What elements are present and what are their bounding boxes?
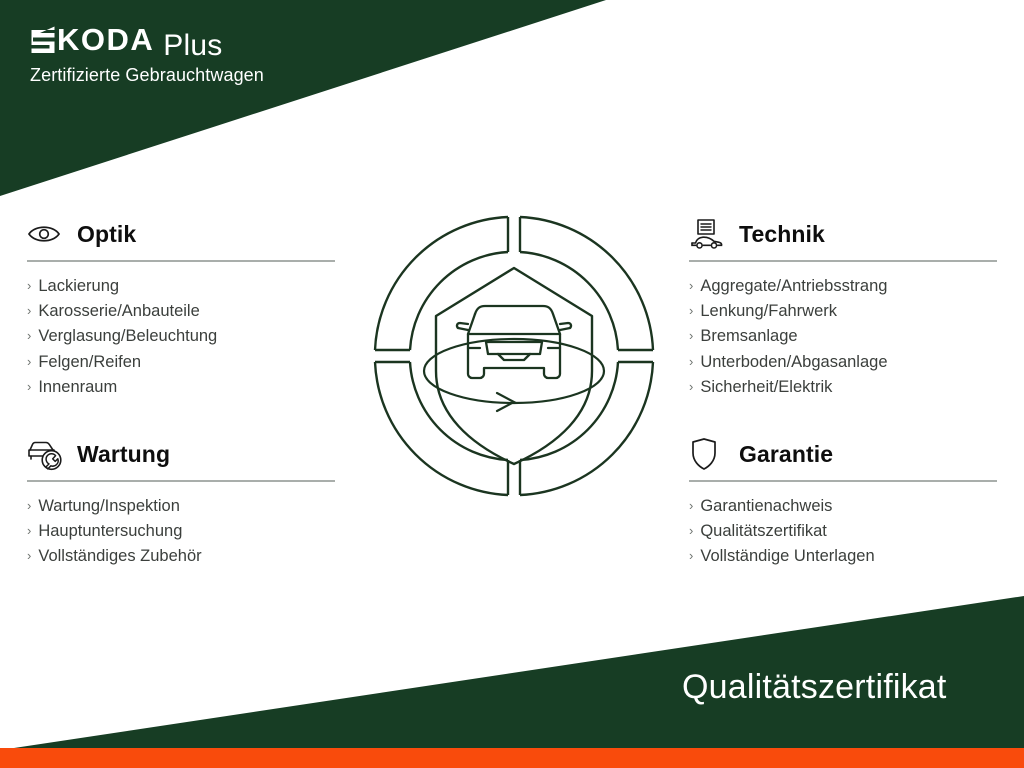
eye-icon <box>27 217 65 251</box>
section-wartung-header: Wartung <box>27 434 339 474</box>
section-wartung-title: Wartung <box>77 441 170 468</box>
brand-name-row: ŠKODA KODA Plus <box>30 24 264 61</box>
list-item: ›Sicherheit/Elektrik <box>689 375 1001 400</box>
chevron-right-icon: › <box>27 377 31 397</box>
chevron-right-icon: › <box>689 276 693 296</box>
list-item: ›Innenraum <box>27 375 339 400</box>
list-item-label: Qualitätszertifikat <box>700 519 827 544</box>
chevron-right-icon: › <box>27 546 31 566</box>
section-garantie-list: ›Garantienachweis ›Qualitätszertifikat ›… <box>689 494 1001 570</box>
section-optik-header: Optik <box>27 214 339 254</box>
list-item: ›Qualitätszertifikat <box>689 519 1001 544</box>
list-item-label: Karosserie/Anbauteile <box>38 299 199 324</box>
section-wartung-divider <box>27 480 335 482</box>
car-wrench-icon <box>27 437 65 471</box>
chevron-right-icon: › <box>689 496 693 516</box>
list-item-label: Garantienachweis <box>700 494 832 519</box>
brand-lockup: ŠKODA KODA Plus Zertifizierte Gebrauchtw… <box>30 24 264 86</box>
section-technik-header: Technik <box>689 214 1001 254</box>
section-wartung-list: ›Wartung/Inspektion ›Hauptuntersuchung ›… <box>27 494 339 570</box>
chevron-right-icon: › <box>689 301 693 321</box>
list-item-label: Unterboden/Abgasanlage <box>700 350 887 375</box>
list-item-label: Aggregate/Antriebsstrang <box>700 274 887 299</box>
list-item: ›Verglasung/Beleuchtung <box>27 324 339 349</box>
section-garantie-divider <box>689 480 997 482</box>
shield-icon <box>689 437 727 471</box>
document-car-icon <box>689 217 727 251</box>
list-item-label: Felgen/Reifen <box>38 350 141 375</box>
list-item: ›Karosserie/Anbauteile <box>27 299 339 324</box>
footer-title: Qualitätszertifikat <box>682 668 1002 707</box>
list-item: ›Felgen/Reifen <box>27 350 339 375</box>
chevron-right-icon: › <box>27 301 31 321</box>
list-item: ›Lenkung/Fahrwerk <box>689 299 1001 324</box>
section-garantie-header: Garantie <box>689 434 1001 474</box>
skoda-wordmark: ŠKODA KODA <box>30 24 154 55</box>
section-technik-list: ›Aggregate/Antriebsstrang ›Lenkung/Fahrw… <box>689 274 1001 400</box>
list-item: ›Vollständiges Zubehör <box>27 544 339 569</box>
list-item-label: Hauptuntersuchung <box>38 519 182 544</box>
section-technik-divider <box>689 260 997 262</box>
section-technik: Technik ›Aggregate/Antriebsstrang ›Lenku… <box>689 214 1001 400</box>
section-optik: Optik ›Lackierung ›Karosserie/Anbauteile… <box>27 214 339 400</box>
chevron-right-icon: › <box>27 521 31 541</box>
chevron-right-icon: › <box>27 326 31 346</box>
shield-car-rings-emblem <box>358 196 670 516</box>
chevron-right-icon: › <box>689 377 693 397</box>
section-optik-list: ›Lackierung ›Karosserie/Anbauteile ›Verg… <box>27 274 339 400</box>
list-item: ›Unterboden/Abgasanlage <box>689 350 1001 375</box>
skoda-wordmark-visible: KODA <box>57 24 154 55</box>
list-item: ›Aggregate/Antriebsstrang <box>689 274 1001 299</box>
plus-wordmark: Plus <box>163 31 222 61</box>
list-item: ›Wartung/Inspektion <box>27 494 339 519</box>
chevron-right-icon: › <box>27 352 31 372</box>
list-item-label: Vollständiges Zubehör <box>38 544 201 569</box>
list-item-label: Verglasung/Beleuchtung <box>38 324 217 349</box>
list-item: ›Garantienachweis <box>689 494 1001 519</box>
section-wartung: Wartung ›Wartung/Inspektion ›Hauptunters… <box>27 434 339 570</box>
list-item-label: Innenraum <box>38 375 117 400</box>
list-item: ›Vollständige Unterlagen <box>689 544 1001 569</box>
list-item-label: Lackierung <box>38 274 119 299</box>
list-item: ›Bremsanlage <box>689 324 1001 349</box>
bottom-accent-bar <box>0 748 1024 768</box>
chevron-right-icon: › <box>27 496 31 516</box>
list-item-label: Bremsanlage <box>700 324 797 349</box>
chevron-right-icon: › <box>689 521 693 541</box>
chevron-right-icon: › <box>27 276 31 296</box>
list-item-label: Sicherheit/Elektrik <box>700 375 832 400</box>
chevron-right-icon: › <box>689 546 693 566</box>
list-item: ›Hauptuntersuchung <box>27 519 339 544</box>
chevron-right-icon: › <box>689 352 693 372</box>
section-garantie-title: Garantie <box>739 441 833 468</box>
section-optik-title: Optik <box>77 221 136 248</box>
section-garantie: Garantie ›Garantienachweis ›Qualitätszer… <box>689 434 1001 570</box>
list-item-label: Lenkung/Fahrwerk <box>700 299 837 324</box>
section-technik-title: Technik <box>739 221 825 248</box>
skoda-s-glyph-icon <box>30 24 56 55</box>
list-item: ›Lackierung <box>27 274 339 299</box>
brand-tagline: Zertifizierte Gebrauchtwagen <box>30 65 264 86</box>
section-optik-divider <box>27 260 335 262</box>
list-item-label: Wartung/Inspektion <box>38 494 180 519</box>
certificate-page: ŠKODA KODA Plus Zertifizierte Gebrauchtw… <box>0 0 1024 768</box>
list-item-label: Vollständige Unterlagen <box>700 544 874 569</box>
chevron-right-icon: › <box>689 326 693 346</box>
